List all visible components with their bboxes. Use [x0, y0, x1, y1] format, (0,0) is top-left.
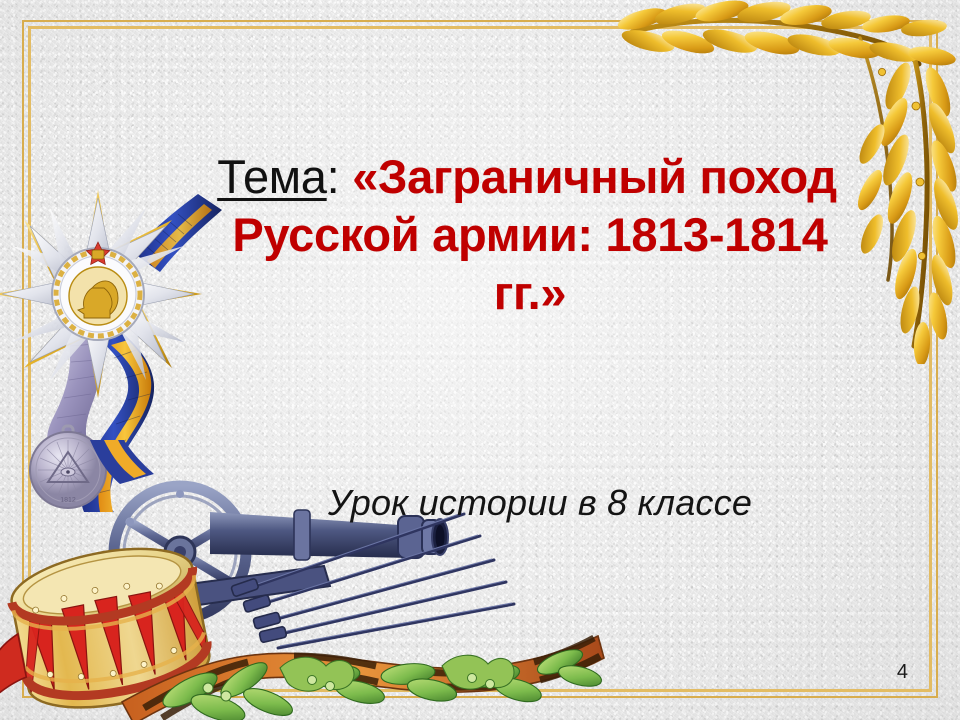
- title-lead: Тема:: [217, 150, 339, 203]
- title-line-2: Русской армии: 1813-1814: [150, 206, 910, 264]
- title-line-1: Тема: «Заграничный поход: [144, 148, 910, 206]
- presentation-slide: 1812: [0, 0, 960, 720]
- title-lead-underlined: Тема: [217, 150, 326, 203]
- slide-page-number: 4: [897, 661, 908, 684]
- slide-subtitle: Урок истории в 8 классе: [170, 482, 910, 524]
- title-line-1-text: «Заграничный поход: [352, 150, 837, 203]
- slide-title: Тема: «Заграничный поход Русской армии: …: [150, 148, 910, 322]
- title-line-3: гг.»: [150, 264, 910, 322]
- title-lead-punct: :: [327, 150, 340, 203]
